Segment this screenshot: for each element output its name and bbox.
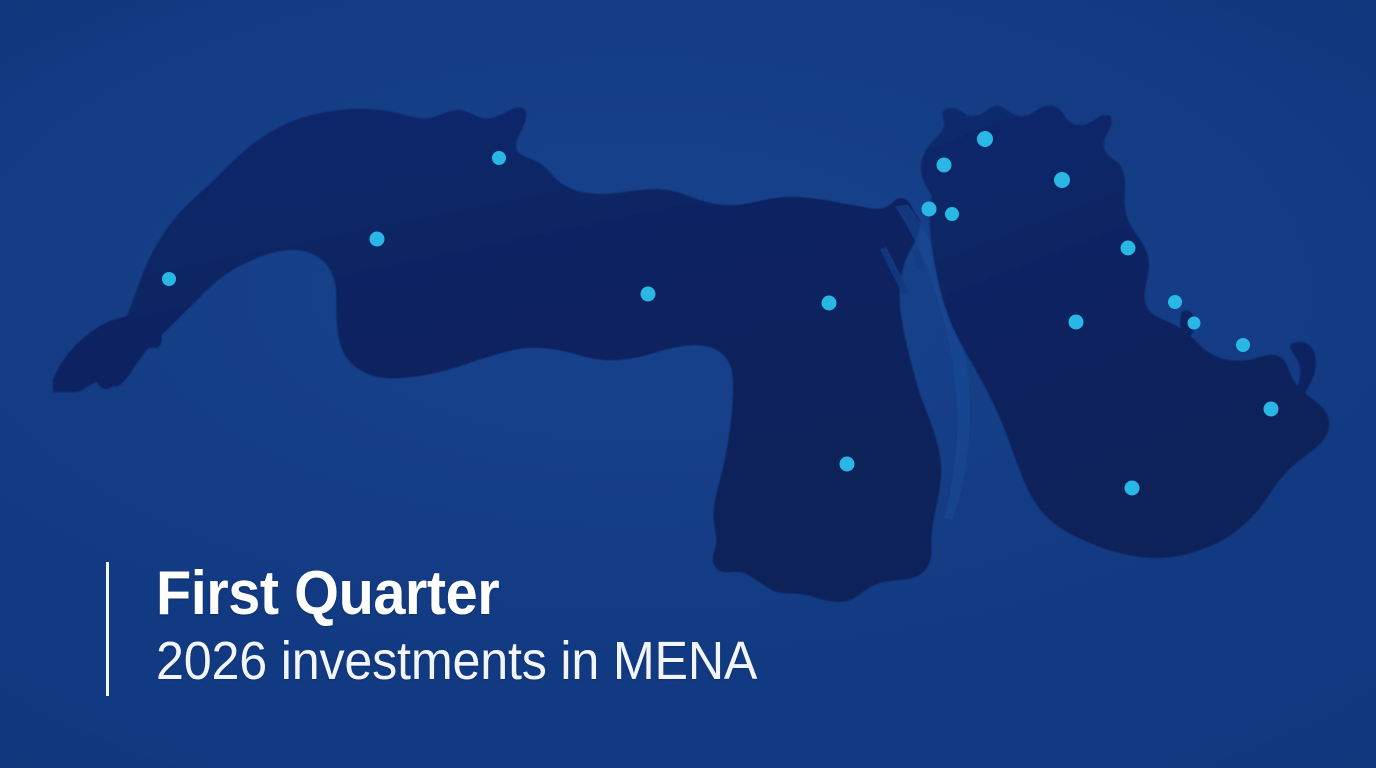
page-subtitle: 2026 investments in MENA	[156, 633, 757, 690]
investment-dot	[1188, 317, 1201, 330]
investment-dot	[977, 131, 993, 147]
investment-dot	[370, 232, 385, 247]
investment-dot	[1125, 481, 1140, 496]
investment-dot	[840, 457, 855, 472]
investment-dot	[641, 287, 656, 302]
investment-dot	[492, 151, 506, 165]
investment-dot	[922, 202, 937, 217]
north-africa-landmass	[53, 107, 941, 602]
investment-dot	[937, 158, 952, 173]
investment-dot	[1264, 402, 1279, 417]
title-text-group: First Quarter 2026 investments in MENA	[109, 562, 803, 696]
investment-dot	[1069, 315, 1084, 330]
investment-dot	[822, 296, 837, 311]
investment-dot	[162, 272, 176, 286]
investment-dot	[1121, 241, 1136, 256]
investment-dot	[945, 207, 959, 221]
accent-vertical-rule	[106, 562, 109, 696]
page-title: First Quarter	[156, 562, 757, 625]
investment-dot	[1236, 338, 1250, 352]
investment-dot	[1054, 172, 1070, 188]
title-block: First Quarter 2026 investments in MENA	[106, 562, 803, 696]
investment-dot	[1168, 295, 1182, 309]
slide-canvas: First Quarter 2026 investments in MENA	[0, 0, 1376, 768]
